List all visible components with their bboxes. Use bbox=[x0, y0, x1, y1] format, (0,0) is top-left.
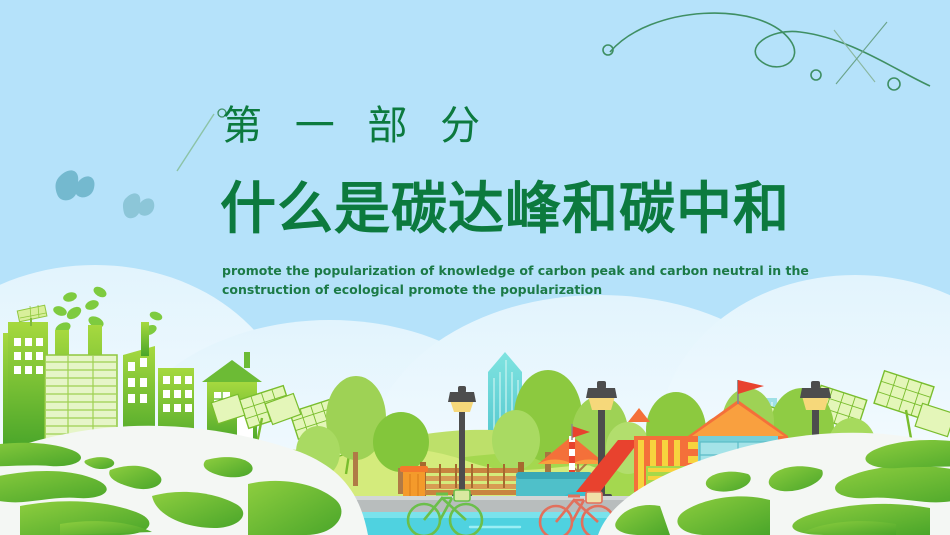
page-title: 什么是碳达峰和碳中和 bbox=[220, 182, 790, 238]
slide-root: 第 一 部 分 什么是碳达峰和碳中和 promote the populariz… bbox=[0, 0, 950, 535]
subtitle-line-2: construction of ecological promote the p… bbox=[222, 280, 742, 299]
section-label: 第 一 部 分 bbox=[222, 106, 490, 146]
subtitle-line-1: promote the popularization of knowledge … bbox=[222, 261, 742, 280]
title-text-block: 第 一 部 分 什么是碳达峰和碳中和 promote the populariz… bbox=[0, 0, 950, 320]
subtitle: promote the popularization of knowledge … bbox=[222, 261, 742, 300]
